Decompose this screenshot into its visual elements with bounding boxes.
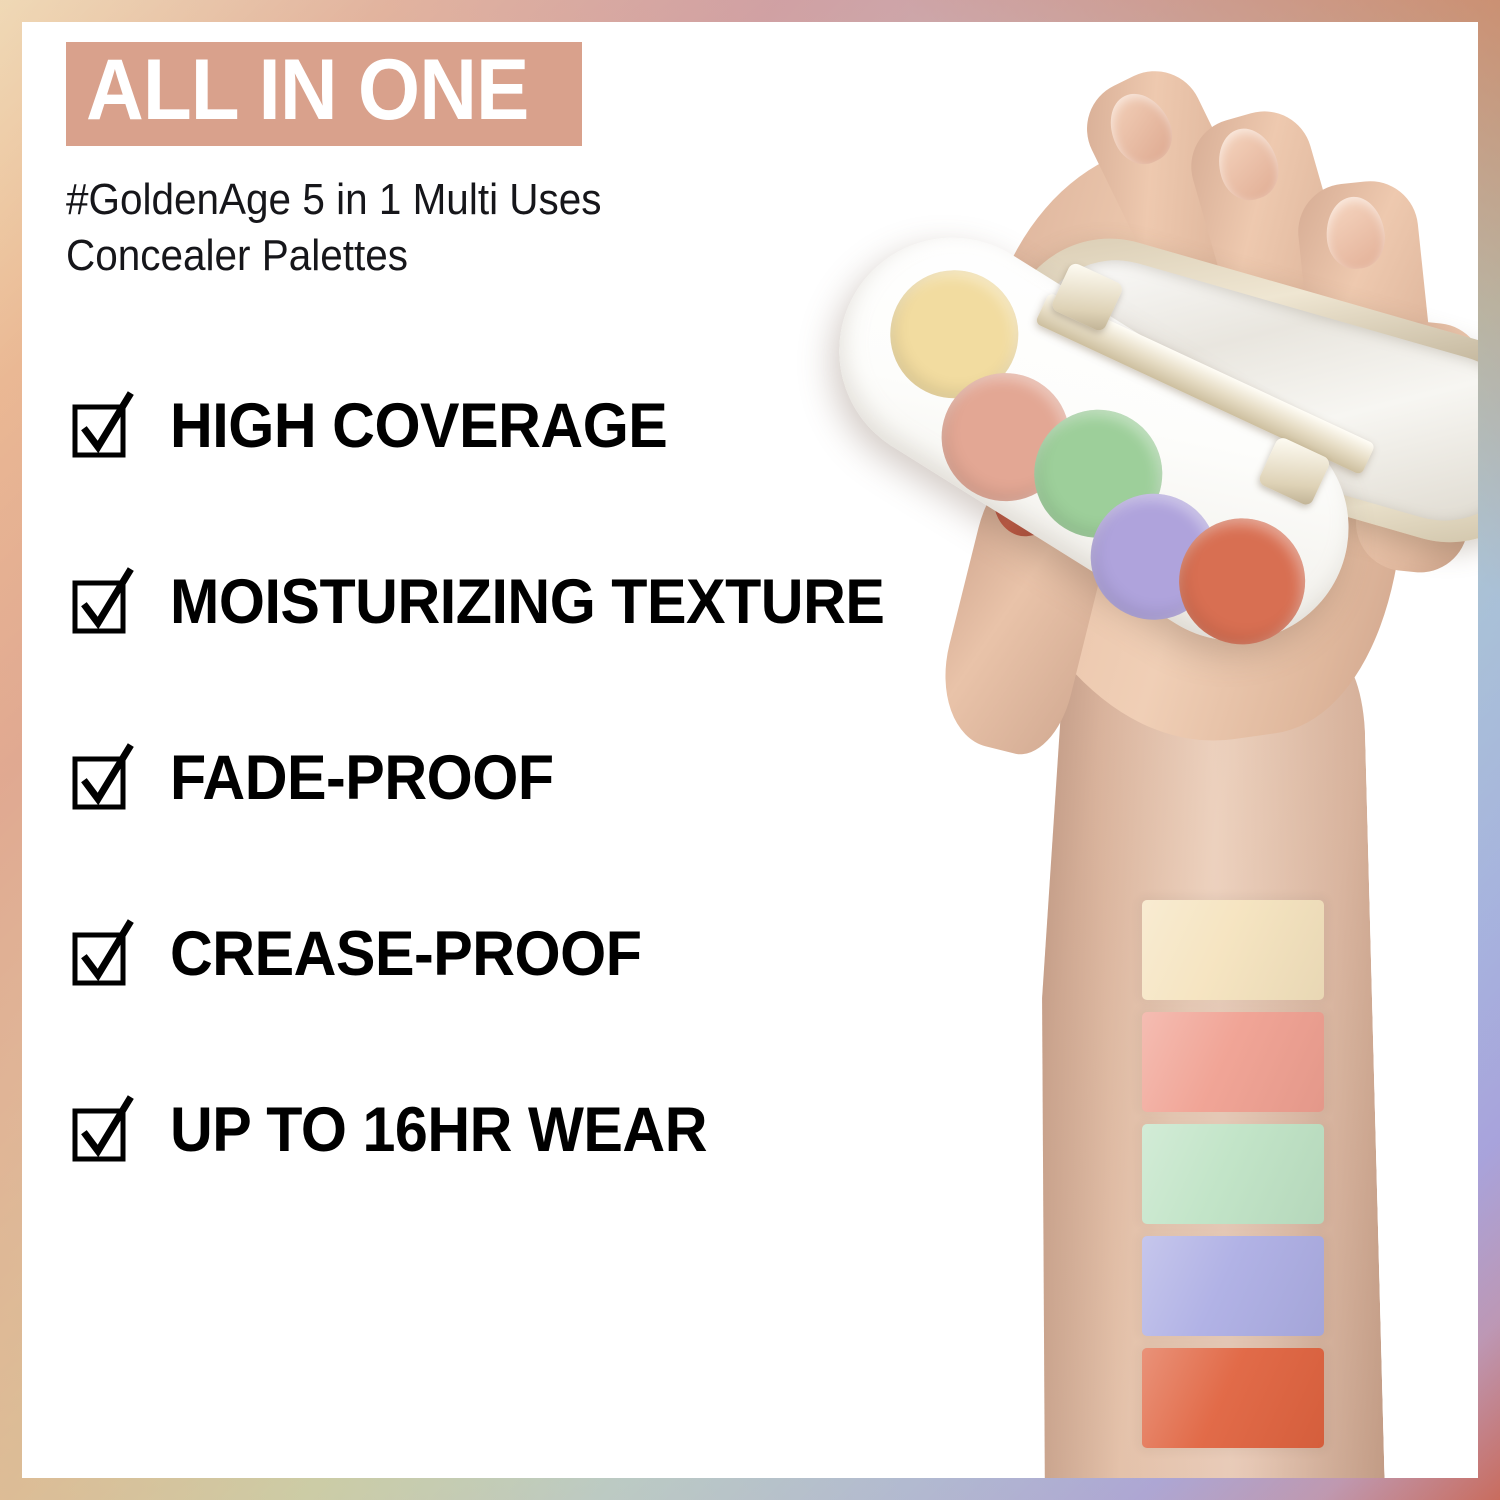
- fingernail: [1099, 83, 1183, 173]
- product-marketing-poster: ALL IN ONE #GoldenAge 5 in 1 Multi Uses …: [0, 0, 1500, 1500]
- swatch-yellow: [1142, 900, 1324, 1000]
- swatch-texture: [1142, 900, 1324, 1000]
- fingernail: [1323, 194, 1388, 272]
- poster-canvas: ALL IN ONE #GoldenAge 5 in 1 Multi Uses …: [22, 22, 1478, 1478]
- list-item: MOISTURIZING TEXTURE: [72, 556, 834, 648]
- checked-checkbox-icon: [72, 569, 132, 635]
- checked-checkbox-icon: [72, 921, 132, 987]
- swatch-texture: [1142, 1236, 1324, 1336]
- feature-label: UP TO 16HR WEAR: [170, 1099, 707, 1162]
- page-title: ALL IN ONE: [86, 50, 528, 132]
- swatch-peach: [1142, 1012, 1324, 1112]
- feature-checklist: HIGH COVERAGE MOISTURIZING TEXTURE: [72, 380, 834, 1176]
- checked-checkbox-icon: [72, 393, 132, 459]
- list-item: HIGH COVERAGE: [72, 380, 834, 472]
- checked-checkbox-icon: [72, 1097, 132, 1163]
- swatch-lavender: [1142, 1236, 1324, 1336]
- list-item: FADE-PROOF: [72, 732, 834, 824]
- swatch-texture: [1142, 1012, 1324, 1112]
- feature-label: FADE-PROOF: [170, 747, 554, 810]
- swatch-texture: [1142, 1348, 1324, 1448]
- copy-column: ALL IN ONE #GoldenAge 5 in 1 Multi Uses …: [44, 42, 834, 1432]
- swatch-green: [1142, 1124, 1324, 1224]
- feature-label: MOISTURIZING TEXTURE: [170, 571, 884, 634]
- swatch-orange: [1142, 1348, 1324, 1448]
- fingernail: [1210, 121, 1286, 206]
- checked-checkbox-icon: [72, 745, 132, 811]
- swatch-texture: [1142, 1124, 1324, 1224]
- list-item: CREASE-PROOF: [72, 908, 834, 1000]
- product-photograph: [812, 22, 1478, 1478]
- feature-label: HIGH COVERAGE: [170, 395, 667, 458]
- headline-banner: ALL IN ONE: [66, 42, 582, 146]
- product-subtitle: #GoldenAge 5 in 1 Multi Uses Concealer P…: [66, 172, 747, 285]
- list-item: UP TO 16HR WEAR: [72, 1084, 834, 1176]
- feature-label: CREASE-PROOF: [170, 923, 641, 986]
